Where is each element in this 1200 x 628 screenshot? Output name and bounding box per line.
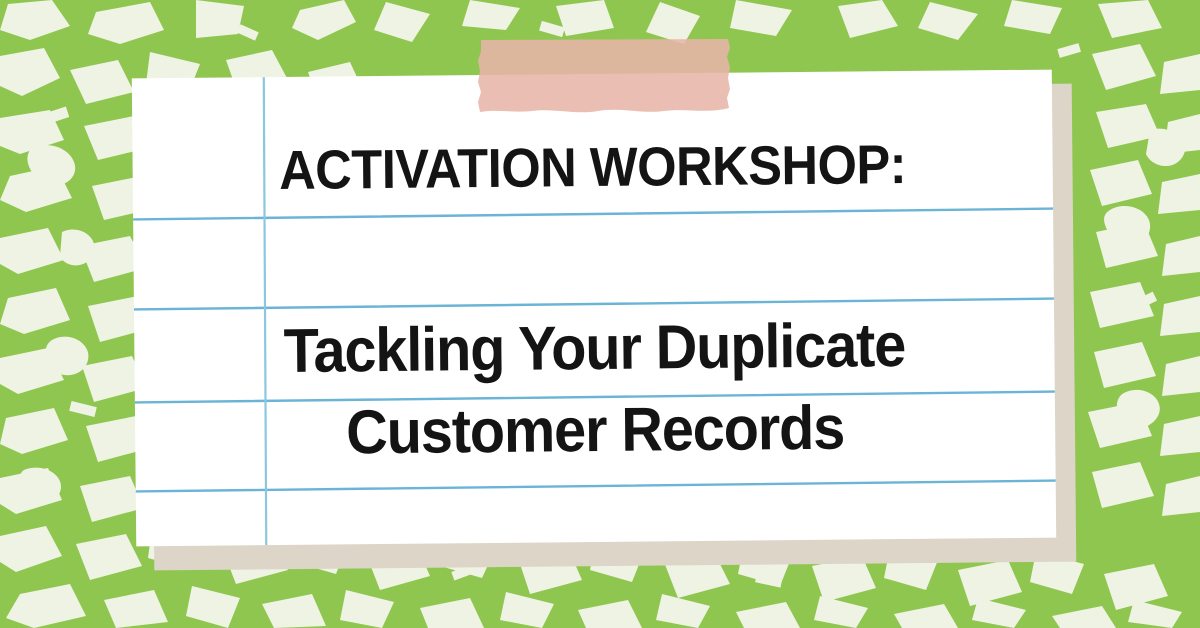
- card-text-block: ACTIVATION WORKSHOP: Tackling Your Dupli…: [132, 70, 1056, 547]
- subtitle-line-2: Customer Records: [167, 390, 1023, 472]
- washi-tape: [478, 38, 731, 114]
- poster-canvas: ACTIVATION WORKSHOP: Tackling Your Dupli…: [0, 0, 1200, 628]
- note-card: ACTIVATION WORKSHOP: Tackling Your Dupli…: [132, 70, 1056, 547]
- page-title: ACTIVATION WORKSHOP:: [169, 132, 1016, 202]
- subtitle-line-1: Tackling Your Duplicate: [166, 308, 1022, 390]
